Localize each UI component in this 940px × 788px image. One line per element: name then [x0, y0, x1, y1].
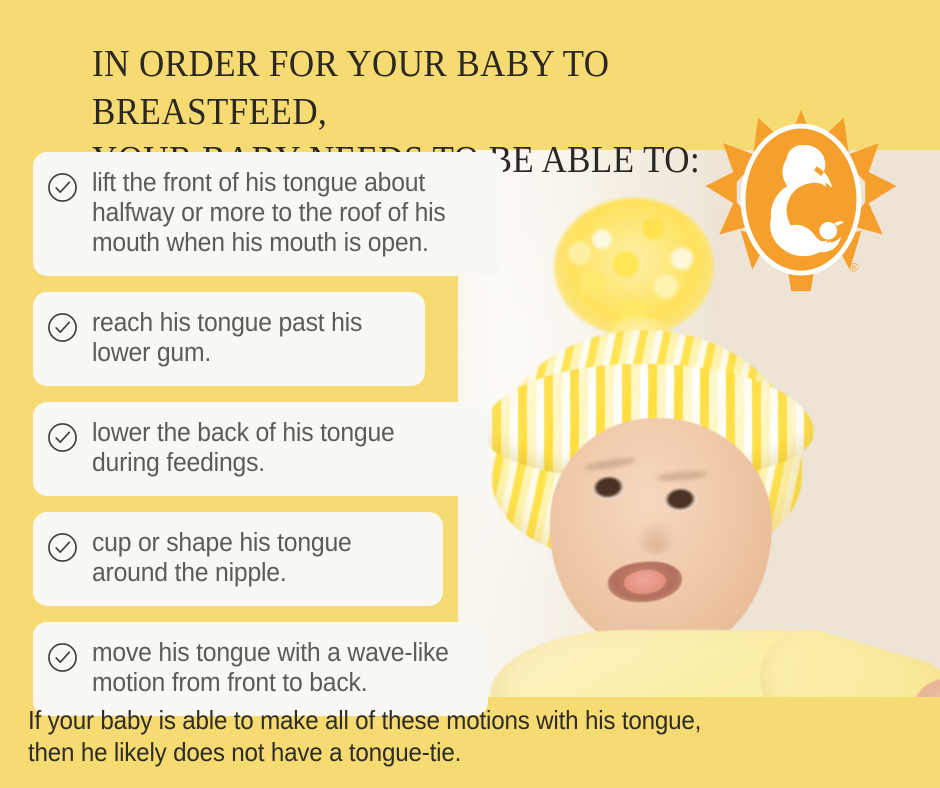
- list-item: cup or shape his tongue around the nippl…: [33, 512, 503, 606]
- check-circle-icon: [47, 312, 78, 343]
- list-item: reach his tongue past his lower gum.: [33, 292, 503, 386]
- footer-note: If your baby is able to make all of thes…: [28, 704, 856, 768]
- checklist-card-5: move his tongue with a wave-like motion …: [33, 622, 488, 716]
- checklist: lift the front of his tongue about halfw…: [33, 152, 503, 716]
- list-item: move his tongue with a wave-like motion …: [33, 622, 503, 716]
- checklist-item-label: move his tongue with a wave-like motion …: [92, 638, 459, 698]
- check-circle-icon: [47, 422, 78, 453]
- list-item: lift the front of his tongue about halfw…: [33, 152, 503, 276]
- checklist-item-label: cup or shape his tongue around the nippl…: [92, 528, 415, 588]
- checklist-card-3: lower the back of his tongue during feed…: [33, 402, 488, 496]
- hat-pompom: [554, 198, 714, 336]
- checklist-item-label: lower the back of his tongue during feed…: [92, 418, 459, 478]
- check-circle-icon: [47, 172, 78, 203]
- checklist-card-2: reach his tongue past his lower gum.: [33, 292, 425, 386]
- infographic-poster: IN ORDER FOR YOUR BABY TO BREASTFEED, YO…: [0, 0, 940, 788]
- checklist-card-4: cup or shape his tongue around the nippl…: [33, 512, 443, 606]
- checklist-item-label: reach his tongue past his lower gum.: [92, 308, 398, 368]
- checklist-card-1: lift the front of his tongue about halfw…: [33, 152, 503, 276]
- baby-nose: [636, 520, 676, 554]
- registered-mark: ®: [850, 262, 859, 275]
- check-circle-icon: [47, 642, 78, 673]
- check-circle-icon: [47, 532, 78, 563]
- list-item: lower the back of his tongue during feed…: [33, 402, 503, 496]
- checklist-item-label: lift the front of his tongue about halfw…: [92, 168, 473, 258]
- la-leche-league-sun-logo: ®: [703, 110, 899, 295]
